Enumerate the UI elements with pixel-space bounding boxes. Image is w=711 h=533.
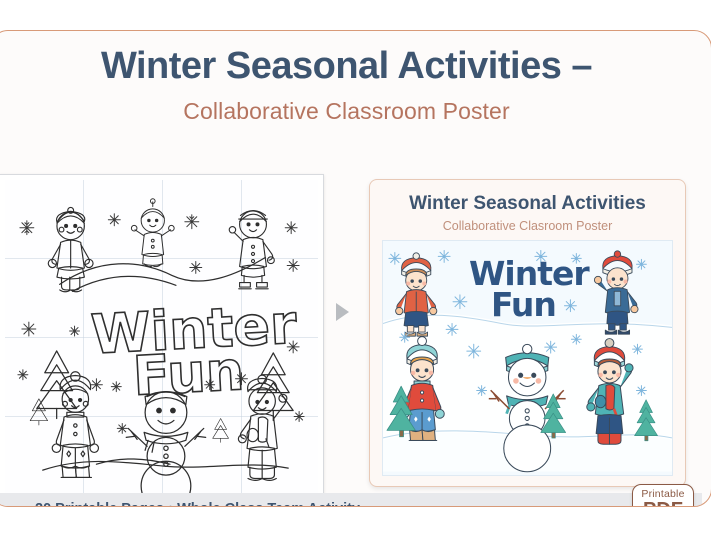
poster-frame: Winter Seasonal Activities – Collaborati… (0, 30, 711, 507)
colored-poster-panel[interactable]: Winter Seasonal Activities Collaborative… (369, 179, 686, 487)
blackline-word-fun: Fun (131, 339, 245, 408)
page-subtitle: Collaborative Classroom Poster (0, 98, 702, 125)
blackline-artwork: Winter Fun (5, 180, 318, 493)
badge-pdf-label: PDF (633, 501, 693, 507)
header: Winter Seasonal Activities – Collaborati… (0, 47, 702, 125)
page-title: Winter Seasonal Activities – (0, 47, 702, 85)
play-triangle-icon (336, 303, 349, 321)
poster-word-fun: Fun (491, 289, 556, 320)
blackline-coloring-panel[interactable]: Winter Fun (0, 174, 324, 499)
poster-preview-title: Winter Seasonal Activities (370, 193, 685, 215)
printable-pdf-badge[interactable]: Printable PDF (632, 484, 694, 507)
colored-artwork: Winter Fun (382, 240, 673, 476)
poster-preview-subtitle: Collaborative Clasroom Poster (370, 219, 685, 233)
footer-caption: 20 Printable Pages • Whole Class Team Ac… (35, 501, 360, 507)
